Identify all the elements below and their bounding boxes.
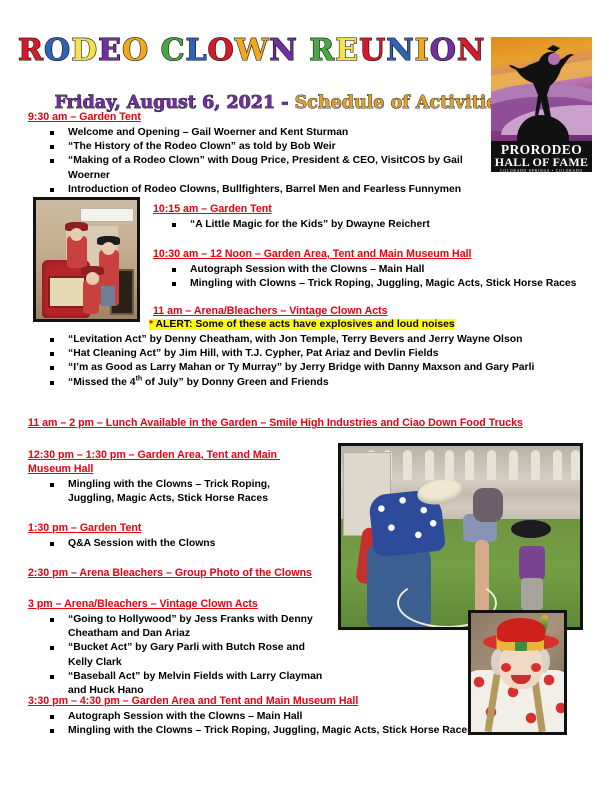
heading-block-0230: 2:30 pm – Arena Bleachers – Group Photo … [28,566,358,580]
page-title: RODEO CLOWN REUNION [18,36,480,66]
alert-explosives: * ALERT: Some of these acts have explosi… [149,318,455,331]
heading-block-0130: 1:30 pm – Garden Tent [28,521,328,535]
title-letter-5 [149,33,160,68]
logo-wordmark: PRORODEO HALL OF FAME COLORADO SPRINGS •… [491,141,592,172]
title-letter-11 [298,33,309,68]
logo-line-2: HALL OF FAME [491,156,592,169]
bullet-list-block-0330: Autograph Session with the Clowns – Main… [46,710,496,738]
title-letter-1: O [44,33,71,68]
schedule-item: “Hat Cleaning Act” by Jim Hill, with T.J… [46,347,586,361]
bullet-list-block-0930: Welcome and Opening – Gail Woerner and K… [46,126,496,197]
bullet-list-block-1230: Mingling with the Clowns – Trick Roping,… [46,478,306,506]
bronc-rider-icon [491,37,592,141]
schedule-item: Introduction of Rodeo Clowns, Bullfighte… [46,183,496,197]
title-letter-18: N [457,33,485,68]
schedule-item: Mingling with the Clowns – Trick Roping,… [46,724,496,738]
schedule-item: Mingling with Clowns – Trick Roping, Jug… [168,277,588,291]
logo-line-3: COLORADO SPRINGS • COLORADO [491,169,592,174]
schedule-item: Autograph Session with the Clowns – Main… [46,710,496,724]
schedule-item: “Bucket Act” by Gary Parli with Butch Ro… [46,641,331,669]
alert-text: ALERT: Some of these acts have explosive… [153,319,455,330]
bullet-list-block-0300: “Going to Hollywood” by Jess Franks with… [46,613,331,698]
title-letter-8: O [208,33,235,68]
heading-block-1100: 11 am – Arena/Bleachers – Vintage Clown … [153,304,513,318]
heading-block-1030: 10:30 am – 12 Noon – Garden Area, Tent a… [153,247,513,261]
photo-clown-trio [33,197,140,322]
schedule-item: “Levitation Act” by Denny Cheatham, with… [46,333,586,347]
bullet-list-block-1015: “A Little Magic for the Kids” by Dwayne … [168,218,568,232]
title-letter-13: E [335,33,359,68]
heading-block-1015: 10:15 am – Garden Tent [153,202,493,216]
heading-block-0330: 3:30 pm – 4:30 pm – Garden Area and Tent… [28,694,448,708]
photo-clown-rope [338,443,583,630]
schedule-item: “The History of the Rodeo Clown” as told… [46,140,496,154]
title-letter-17: O [430,33,457,68]
title-letter-7: L [185,33,207,68]
heading-block-1230: 12:30 pm – 1:30 pm – Garden Area, Tent a… [28,448,298,476]
title-letter-12: R [309,33,335,68]
title-letter-2: D [71,33,98,68]
title-letter-15: N [386,33,414,68]
bullet-list-block-0130: Q&A Session with the Clowns [46,537,326,551]
schedule-item: Q&A Session with the Clowns [46,537,326,551]
title-letter-4: O [122,33,149,68]
title-letter-9: W [235,33,270,68]
schedule-item: Mingling with the Clowns – Trick Roping,… [46,478,306,506]
title-letter-14: U [359,33,386,68]
schedule-item: “Missed the 4th of July” by Donny Green … [46,376,586,390]
title-letter-0: R [18,33,44,68]
heading-block-0930: 9:30 am – Garden Tent [28,110,468,124]
title-letter-6: C [161,33,186,68]
heading-block-lunch: 11 am – 2 pm – Lunch Available in the Ga… [28,416,598,430]
title-letter-10: N [269,33,297,68]
bullet-list-block-1100: “Levitation Act” by Denny Cheatham, with… [46,333,586,390]
schedule-item: “I’m as Good as Larry Mahan or Ty Murray… [46,361,586,375]
title-letter-3: E [98,33,122,68]
prorodeo-hall-of-fame-logo: PRORODEO HALL OF FAME COLORADO SPRINGS •… [491,37,592,172]
schedule-item: “Going to Hollywood” by Jess Franks with… [46,613,331,641]
schedule-item: “A Little Magic for the Kids” by Dwayne … [168,218,568,232]
schedule-page: RODEO CLOWN REUNION Friday, August 6, 20… [0,0,612,792]
schedule-item: Welcome and Opening – Gail Woerner and K… [46,126,496,140]
bullet-list-block-1030: Autograph Session with the Clowns – Main… [168,263,588,291]
heading-block-0300: 3 pm – Arena/Bleachers – Vintage Clown A… [28,597,348,611]
schedule-item: “Making of a Rodeo Clown” with Doug Pric… [46,154,496,182]
title-letter-16: I [415,33,430,68]
schedule-item: Autograph Session with the Clowns – Main… [168,263,588,277]
photo-clown-portrait [468,610,567,735]
